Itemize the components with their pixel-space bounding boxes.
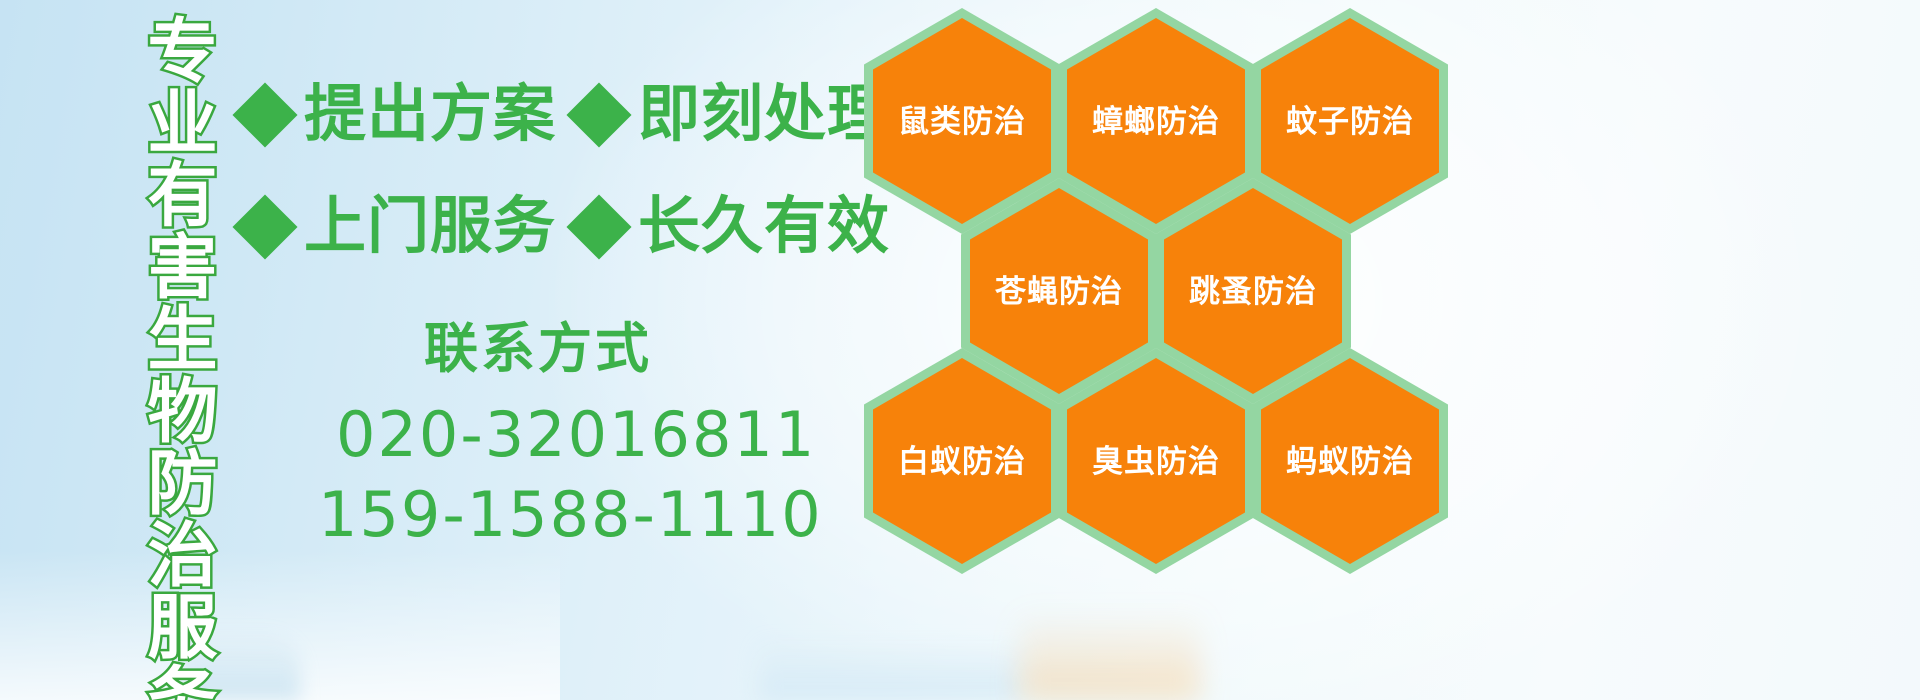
diamond-bullet-icon [232,204,298,250]
feature-label-3: 上门服务 [298,196,566,258]
feature-row-top: 提出方案 即刻处理 [232,84,900,146]
feature-item-1: 提出方案 [232,84,566,146]
background-blur-shape-center [760,640,1020,700]
feature-item-2: 即刻处理 [566,84,900,146]
feature-row-bottom: 上门服务 长久有效 [232,196,900,258]
feature-item-4: 长久有效 [566,196,900,258]
service-honeycomb: 鼠类防治 蟑螂防治 蚊子防治 苍蝇防治 跳蚤防治 白蚁防治 [856,0,1456,600]
background-glow-bottom-left [0,550,560,700]
background-blur-shape-orange [1020,610,1200,700]
service-label: 蟑螂防治 [1092,106,1220,137]
diamond-bullet-icon [232,92,298,138]
hex-inner: 跳蚤防治 [1164,188,1342,394]
hex-inner: 鼠类防治 [873,18,1051,224]
hex-inner: 苍蝇防治 [970,188,1148,394]
vertical-headline: 专业有害生物防治服务 [108,14,212,574]
hex-inner: 白蚁防治 [873,358,1051,564]
diamond-bullet-icon [566,92,632,138]
hex-inner: 蚊子防治 [1261,18,1439,224]
service-label: 苍蝇防治 [995,276,1123,307]
service-label: 跳蚤防治 [1189,276,1317,307]
feature-label-1: 提出方案 [298,84,566,146]
hex-inner: 臭虫防治 [1067,358,1245,564]
service-label: 鼠类防治 [898,106,1026,137]
diamond-bullet-icon [566,204,632,250]
service-label: 臭虫防治 [1092,446,1220,477]
service-label: 白蚁防治 [898,446,1026,477]
service-label: 蚊子防治 [1286,106,1414,137]
feature-item-3: 上门服务 [232,196,566,258]
hex-inner: 蟑螂防治 [1067,18,1245,224]
contact-title: 联系方式 [424,322,652,376]
service-label: 蚂蚁防治 [1286,446,1414,477]
pest-control-banner: 专业有害生物防治服务 提出方案 即刻处理 上门服务 长久有效 联系方式 020-… [0,0,1920,700]
phone-landline[interactable]: 020-32016811 [336,404,816,466]
hex-inner: 蚂蚁防治 [1261,358,1439,564]
phone-mobile[interactable]: 159-1588-1110 [318,484,823,546]
